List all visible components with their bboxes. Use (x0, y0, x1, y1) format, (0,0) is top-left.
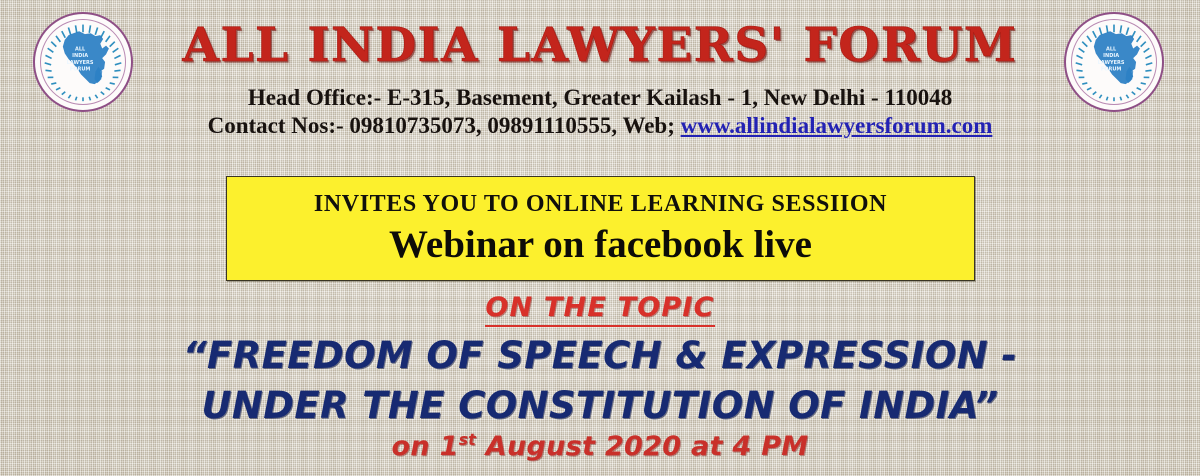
schedule-suffix: August 2020 at 4 PM (476, 431, 808, 462)
website-link[interactable]: www.allindialawyersforum.com (681, 113, 993, 138)
topic-title-line-2: UNDER THE CONSTITUTION OF INDIA” (0, 384, 1200, 428)
head-office-address: Head Office:- E-315, Basement, Greater K… (0, 84, 1200, 112)
event-flyer-poster: ALL INDIA LAWYERS FORUM (0, 0, 1200, 476)
contact-numbers-text: Contact Nos:- 09810735073, 09891110555, … (208, 113, 675, 138)
on-the-topic-heading: ON THE TOPIC (0, 291, 1200, 324)
topic-title-line-1: “FREEDOM OF SPEECH & EXPRESSION - (0, 334, 1200, 378)
schedule-prefix: on 1 (392, 431, 459, 462)
organisation-title: ALL INDIA LAWYERS' FORUM (0, 18, 1200, 74)
webinar-platform-text: Webinar on facebook live (389, 222, 812, 268)
contact-line: Contact Nos:- 09810735073, 09891110555, … (0, 112, 1200, 140)
invite-banner: INVITES YOU TO ONLINE LEARNING SESSIION … (226, 176, 975, 281)
schedule-ordinal: st (459, 430, 476, 449)
invite-session-text: INVITES YOU TO ONLINE LEARNING SESSIION (314, 189, 887, 219)
on-the-topic-label: ON THE TOPIC (485, 292, 714, 327)
event-schedule: on 1st August 2020 at 4 PM (0, 430, 1200, 463)
